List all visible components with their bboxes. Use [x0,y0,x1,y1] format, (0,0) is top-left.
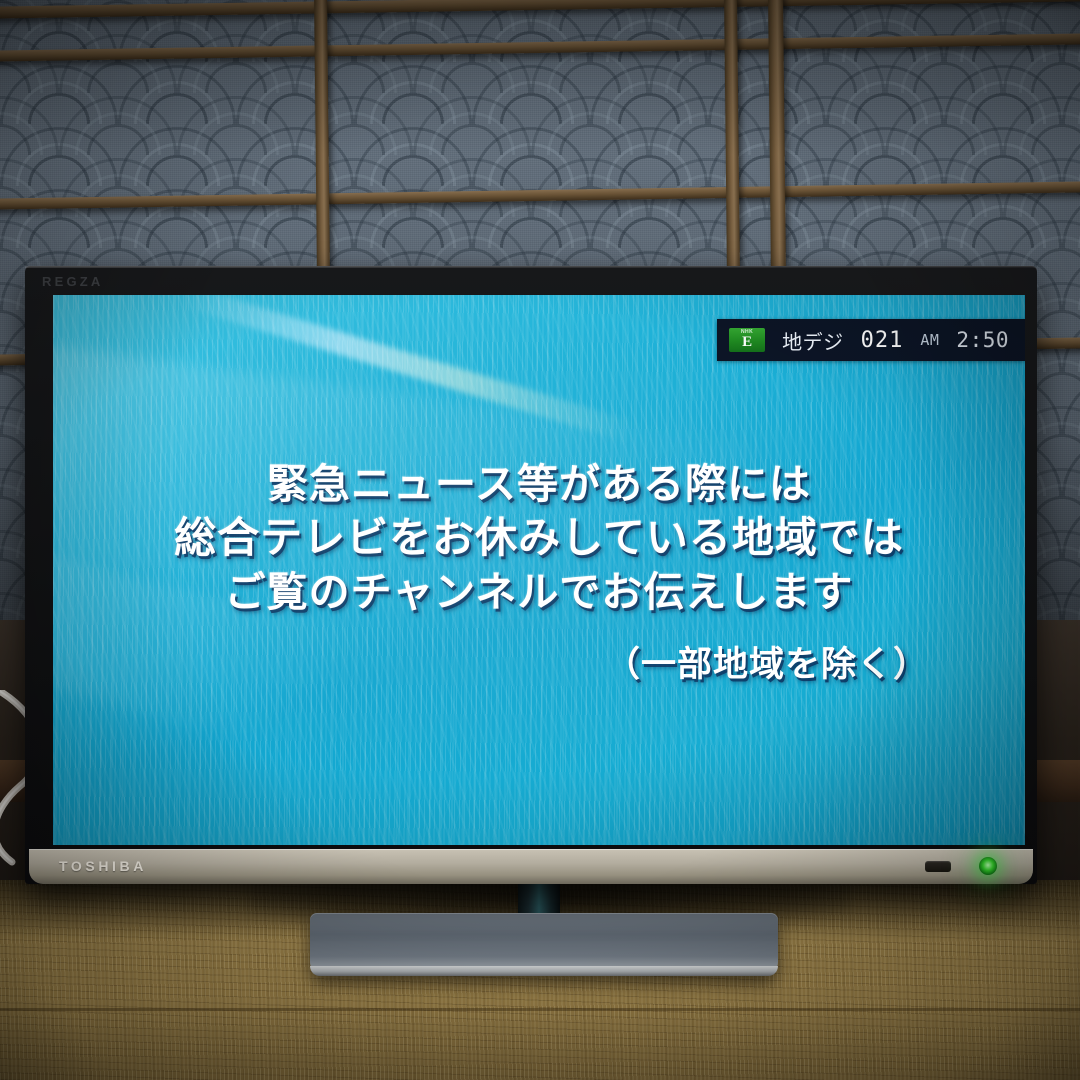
room-scene: REGZA NHK E 地デジ 021 AM 2:50 緊急ニュ [0,0,1080,1080]
ir-receiver-icon [925,861,951,872]
tatami-seam [0,1008,1080,1011]
power-led-indicator [979,857,997,875]
television[interactable]: REGZA NHK E 地デジ 021 AM 2:50 緊急ニュ [25,266,1037,884]
tv-screen[interactable]: NHK E 地デジ 021 AM 2:50 緊急ニュース等がある際には 総合テレ… [53,295,1025,845]
screen-vignette [53,295,1025,845]
regza-brand-label: REGZA [42,274,104,289]
tv-stand-base-lip [310,966,778,976]
tv-bottom-bezel: TOSHIBA [29,849,1033,884]
bezel-highlight [25,266,1037,268]
toshiba-brand-label: TOSHIBA [59,858,147,874]
